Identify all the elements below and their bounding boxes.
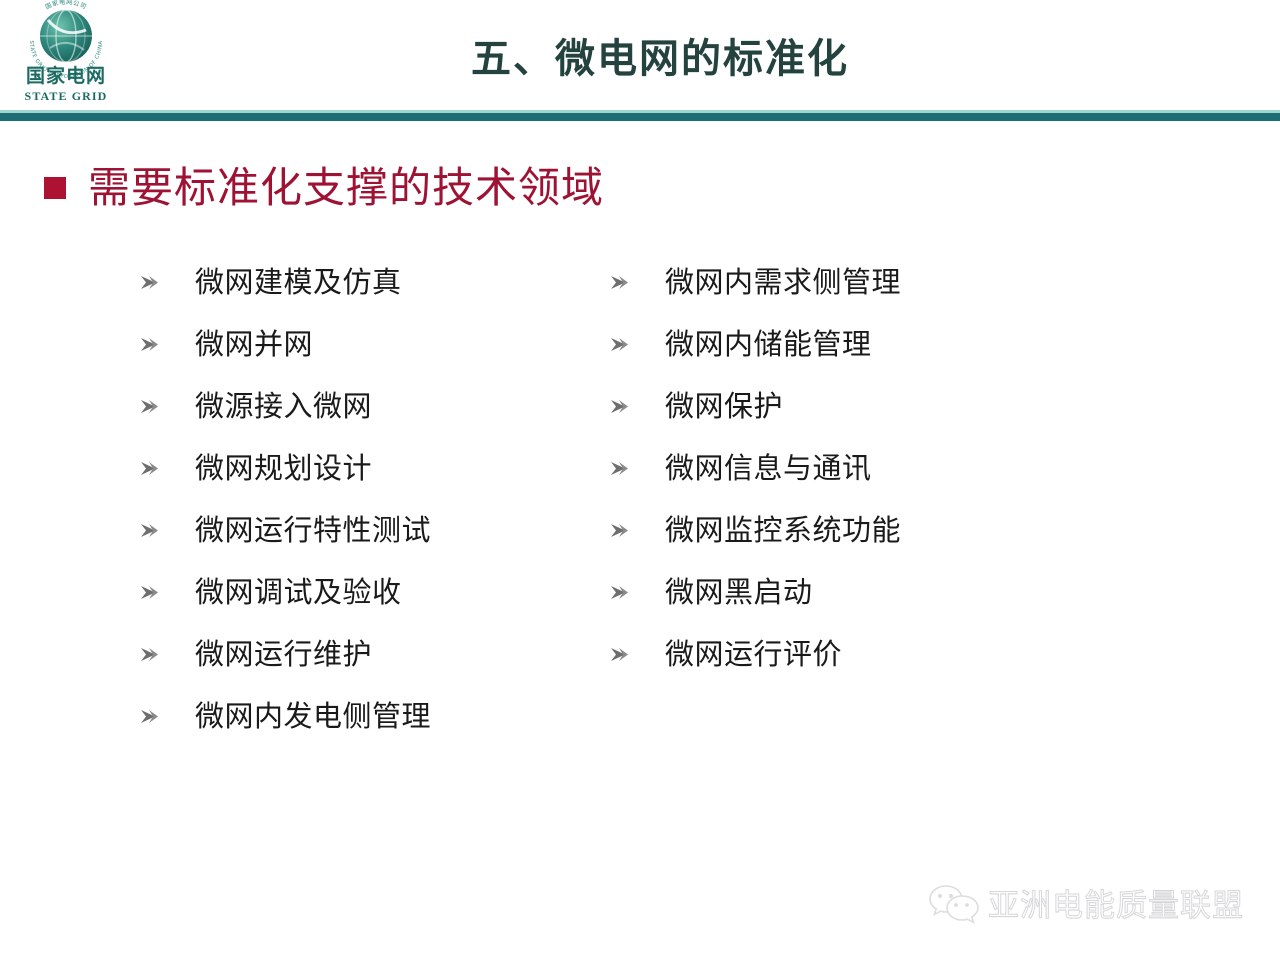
list-item[interactable]: 微网内发电侧管理 [140,685,431,747]
list-item[interactable]: 微网黑启动 [610,561,901,623]
list-item-label: 微网黑启动 [665,575,813,609]
slide-body: 需要标准化支撑的技术领域 微网建模及仿真 微网并网 微源接入微网 [0,121,1280,960]
list-item[interactable]: 微网运行维护 [140,623,431,685]
arrow-bullet-icon [610,585,665,600]
globe-icon [36,6,96,66]
list-item[interactable]: 微网建模及仿真 [140,251,431,313]
list-item-label: 微网运行评价 [665,637,842,671]
arrow-bullet-icon [140,461,195,476]
square-bullet-icon [44,177,66,199]
arrow-bullet-icon [610,337,665,352]
list-item-label: 微网建模及仿真 [195,265,402,299]
logo-name-en: STATE GRID [14,89,118,104]
topic-column-right: 微网内需求侧管理 微网内储能管理 微网保护 微网信息与通讯 [610,251,901,685]
list-item-label: 微网监控系统功能 [665,513,901,547]
state-grid-logo: 国家电网公司 STATE GRID CORPORATION OF CHINA 国… [14,4,118,110]
list-item[interactable]: 微网信息与通讯 [610,437,901,499]
section-heading: 需要标准化支撑的技术领域 [44,165,604,211]
list-item-label: 微网信息与通讯 [665,451,872,485]
arrow-bullet-icon [140,647,195,662]
arrow-bullet-icon [140,709,195,724]
arrow-bullet-icon [610,647,665,662]
list-item-label: 微网保护 [665,389,783,423]
arrow-bullet-icon [610,275,665,290]
list-item-label: 微网调试及验收 [195,575,402,609]
list-item-label: 微网运行特性测试 [195,513,431,547]
arrow-bullet-icon [140,585,195,600]
list-item[interactable]: 微网监控系统功能 [610,499,901,561]
section-heading-label: 需要标准化支撑的技术领域 [88,165,604,211]
list-item[interactable]: 微网运行特性测试 [140,499,431,561]
logo-name-cn: 国家电网 [14,66,118,87]
watermark: 亚洲电能质量联盟 [928,880,1244,925]
slide-header: 国家电网公司 STATE GRID CORPORATION OF CHINA 国… [0,0,1280,113]
arrow-bullet-icon [140,275,195,290]
list-item[interactable]: 微网调试及验收 [140,561,431,623]
list-item[interactable]: 微网内储能管理 [610,313,901,375]
list-item-label: 微网内储能管理 [665,327,872,361]
list-item-label: 微网内需求侧管理 [665,265,901,299]
list-item[interactable]: 微源接入微网 [140,375,431,437]
arrow-bullet-icon [610,399,665,414]
arrow-bullet-icon [610,461,665,476]
arrow-bullet-icon [140,399,195,414]
list-item[interactable]: 微网内需求侧管理 [610,251,901,313]
list-item-label: 微网内发电侧管理 [195,699,431,733]
list-item-label: 微网并网 [195,327,313,361]
page-title: 五、微电网的标准化 [160,26,1160,84]
list-item[interactable]: 微网规划设计 [140,437,431,499]
arrow-bullet-icon [610,523,665,538]
list-item[interactable]: 微网运行评价 [610,623,901,685]
wechat-icon [928,882,980,924]
arrow-bullet-icon [140,337,195,352]
arrow-bullet-icon [140,523,195,538]
topic-column-left: 微网建模及仿真 微网并网 微源接入微网 微网规划设计 [140,251,431,747]
list-item-label: 微网运行维护 [195,637,372,671]
list-item-label: 微源接入微网 [195,389,372,423]
list-item[interactable]: 微网并网 [140,313,431,375]
watermark-label: 亚洲电能质量联盟 [988,880,1244,925]
header-divider [0,113,1280,121]
list-item[interactable]: 微网保护 [610,375,901,437]
list-item-label: 微网规划设计 [195,451,372,485]
